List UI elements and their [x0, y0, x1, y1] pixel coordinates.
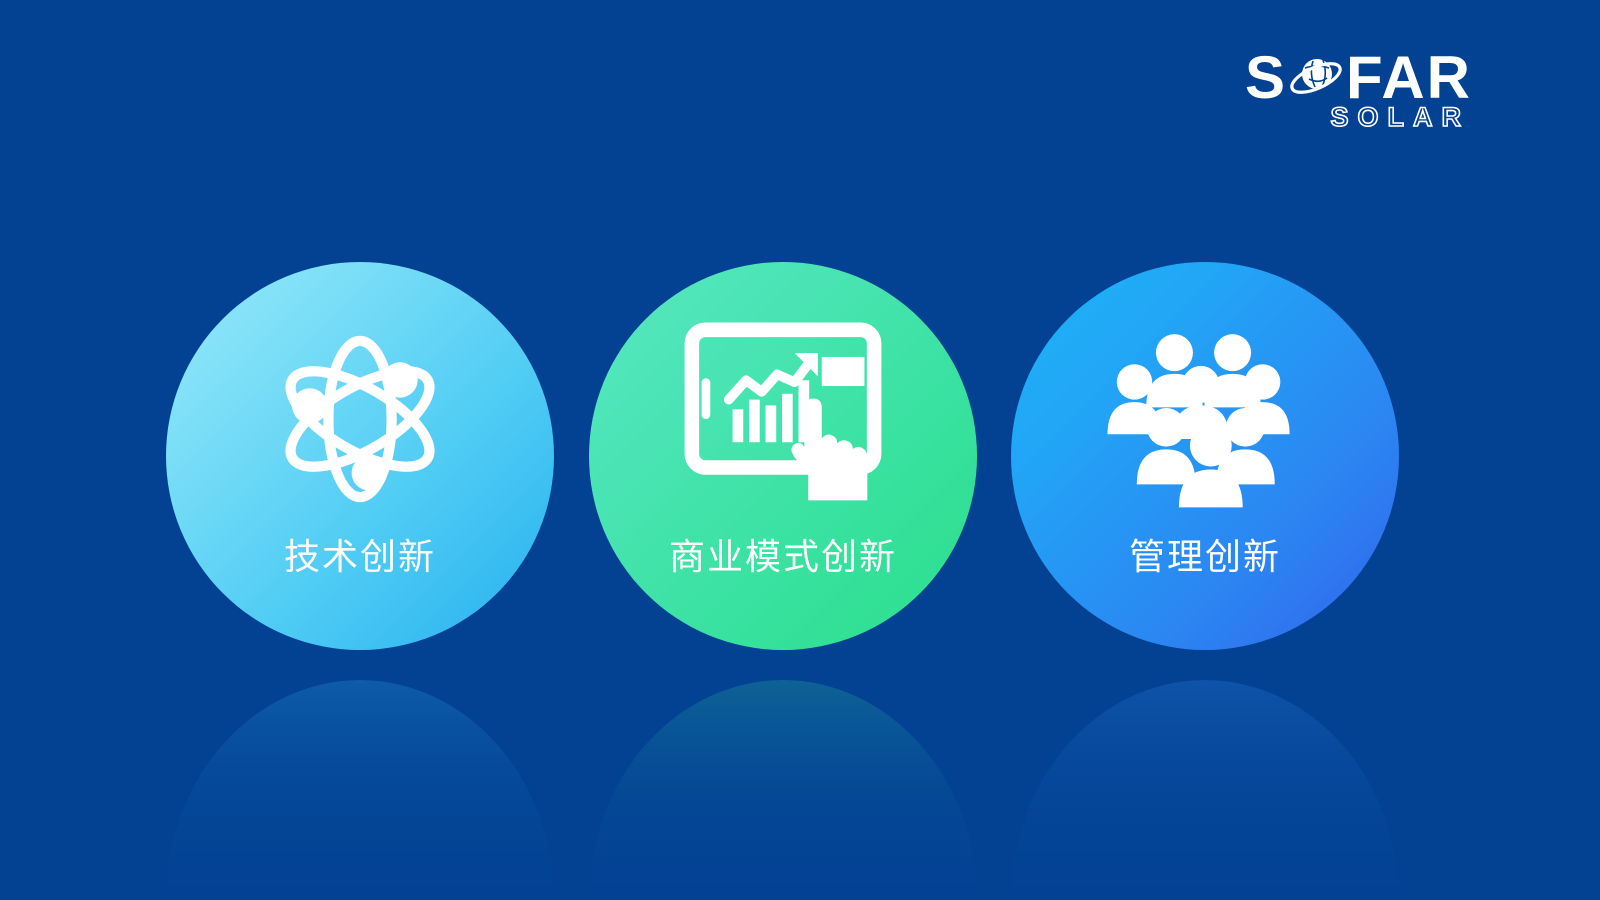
card-label: 商业模式创新: [669, 528, 897, 580]
logo-letter-s: S: [1245, 48, 1285, 108]
card-reflection: [589, 680, 977, 900]
tablet-chart-touch-icon: [589, 314, 977, 524]
card-business-model-innovation[interactable]: 商业模式创新: [589, 262, 977, 650]
people-group-icon: [1011, 314, 1399, 524]
logo-subtitle: SOLAR: [1331, 104, 1471, 131]
card-label: 技术创新: [284, 528, 436, 580]
sofar-solar-logo: S FAR SOLAR: [1245, 48, 1472, 131]
card-technology-innovation[interactable]: 技术创新: [166, 262, 554, 650]
card-reflection: [1011, 680, 1399, 900]
globe-orbit-icon: [1287, 49, 1345, 107]
slide-canvas: S FAR SOLAR: [0, 0, 1600, 900]
card-management-innovation[interactable]: 管理创新: [1011, 262, 1399, 650]
card-reflection: [166, 680, 554, 900]
card-label: 管理创新: [1129, 528, 1281, 580]
logo-wordmark: S FAR: [1245, 48, 1472, 108]
logo-letters-far: FAR: [1346, 48, 1472, 108]
atom-icon: [166, 314, 554, 524]
